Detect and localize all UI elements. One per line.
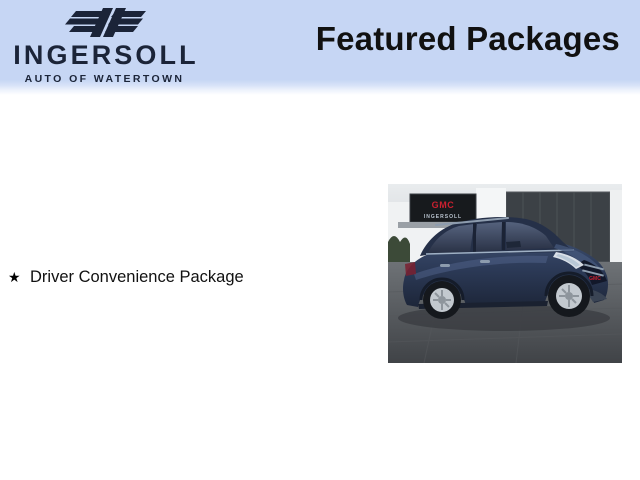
package-name: Driver Convenience Package <box>30 266 370 288</box>
dealer-logo[interactable]: INGERSOLL AUTO OF WATERTOWN <box>8 2 204 88</box>
star-bullet-icon: ★ <box>8 266 30 288</box>
page-title: Featured Packages <box>316 19 620 59</box>
featured-packages-list: ★ Driver Convenience Package <box>0 266 370 294</box>
ingersoll-wing-emblem-icon <box>60 6 152 40</box>
svg-text:INGERSOLL: INGERSOLL <box>424 214 462 220</box>
svg-text:GMC: GMC <box>432 200 455 210</box>
dealer-wordmark: INGERSOLL <box>8 42 204 69</box>
vehicle-photo: GMC INGERSOLL <box>388 184 622 363</box>
svg-text:GMC: GMC <box>589 276 601 282</box>
list-item: ★ Driver Convenience Package <box>0 266 370 288</box>
dealer-subwordmark: AUTO OF WATERTOWN <box>8 73 201 85</box>
